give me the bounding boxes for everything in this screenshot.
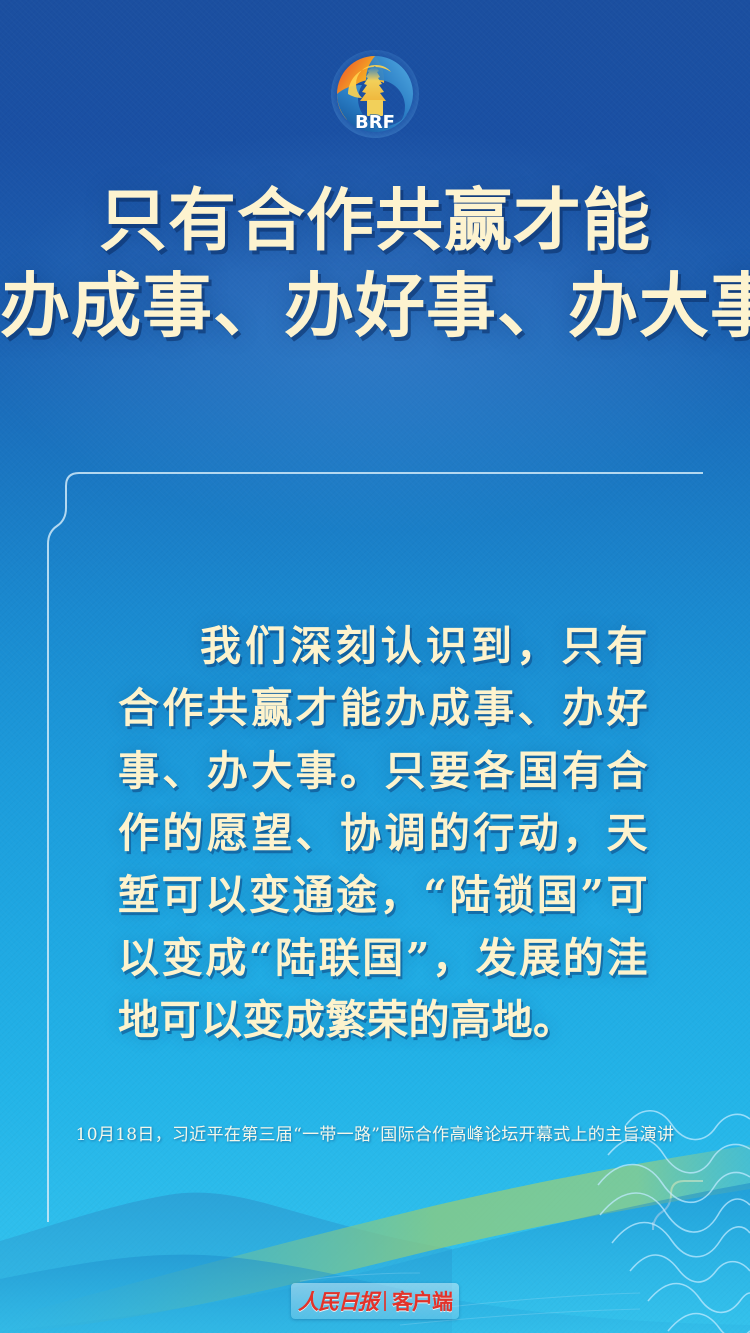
headline-line-1: 只有合作共赢才能 (0, 180, 750, 263)
brf-logo: BRF (323, 48, 427, 144)
brand-logo: 人民日报 客户端 (291, 1283, 459, 1319)
quote-attribution: 10月18日，习近平在第三届“一带一路”国际合作高峰论坛开幕式上的主旨演讲 (0, 1120, 750, 1145)
svg-text:BRF: BRF (355, 112, 395, 133)
brand-separator (384, 1291, 386, 1311)
brand-name-left: 人民日报 (298, 1286, 378, 1316)
poster-headline: 只有合作共赢才能 办成事、办好事、办大事 (0, 180, 750, 348)
brand-name-right: 客户端 (392, 1286, 452, 1316)
quote-text: 我们深刻认识到，只有合作共赢才能办成事、办好事、办大事。只要各国有合作的愿望、协… (118, 615, 648, 1051)
poster-canvas: BRF 只有合作共赢才能 办成事、办好事、办大事 我们深刻认识到，只有合作共赢才… (0, 0, 750, 1333)
headline-line-2: 办成事、办好事、办大事 (0, 263, 750, 348)
